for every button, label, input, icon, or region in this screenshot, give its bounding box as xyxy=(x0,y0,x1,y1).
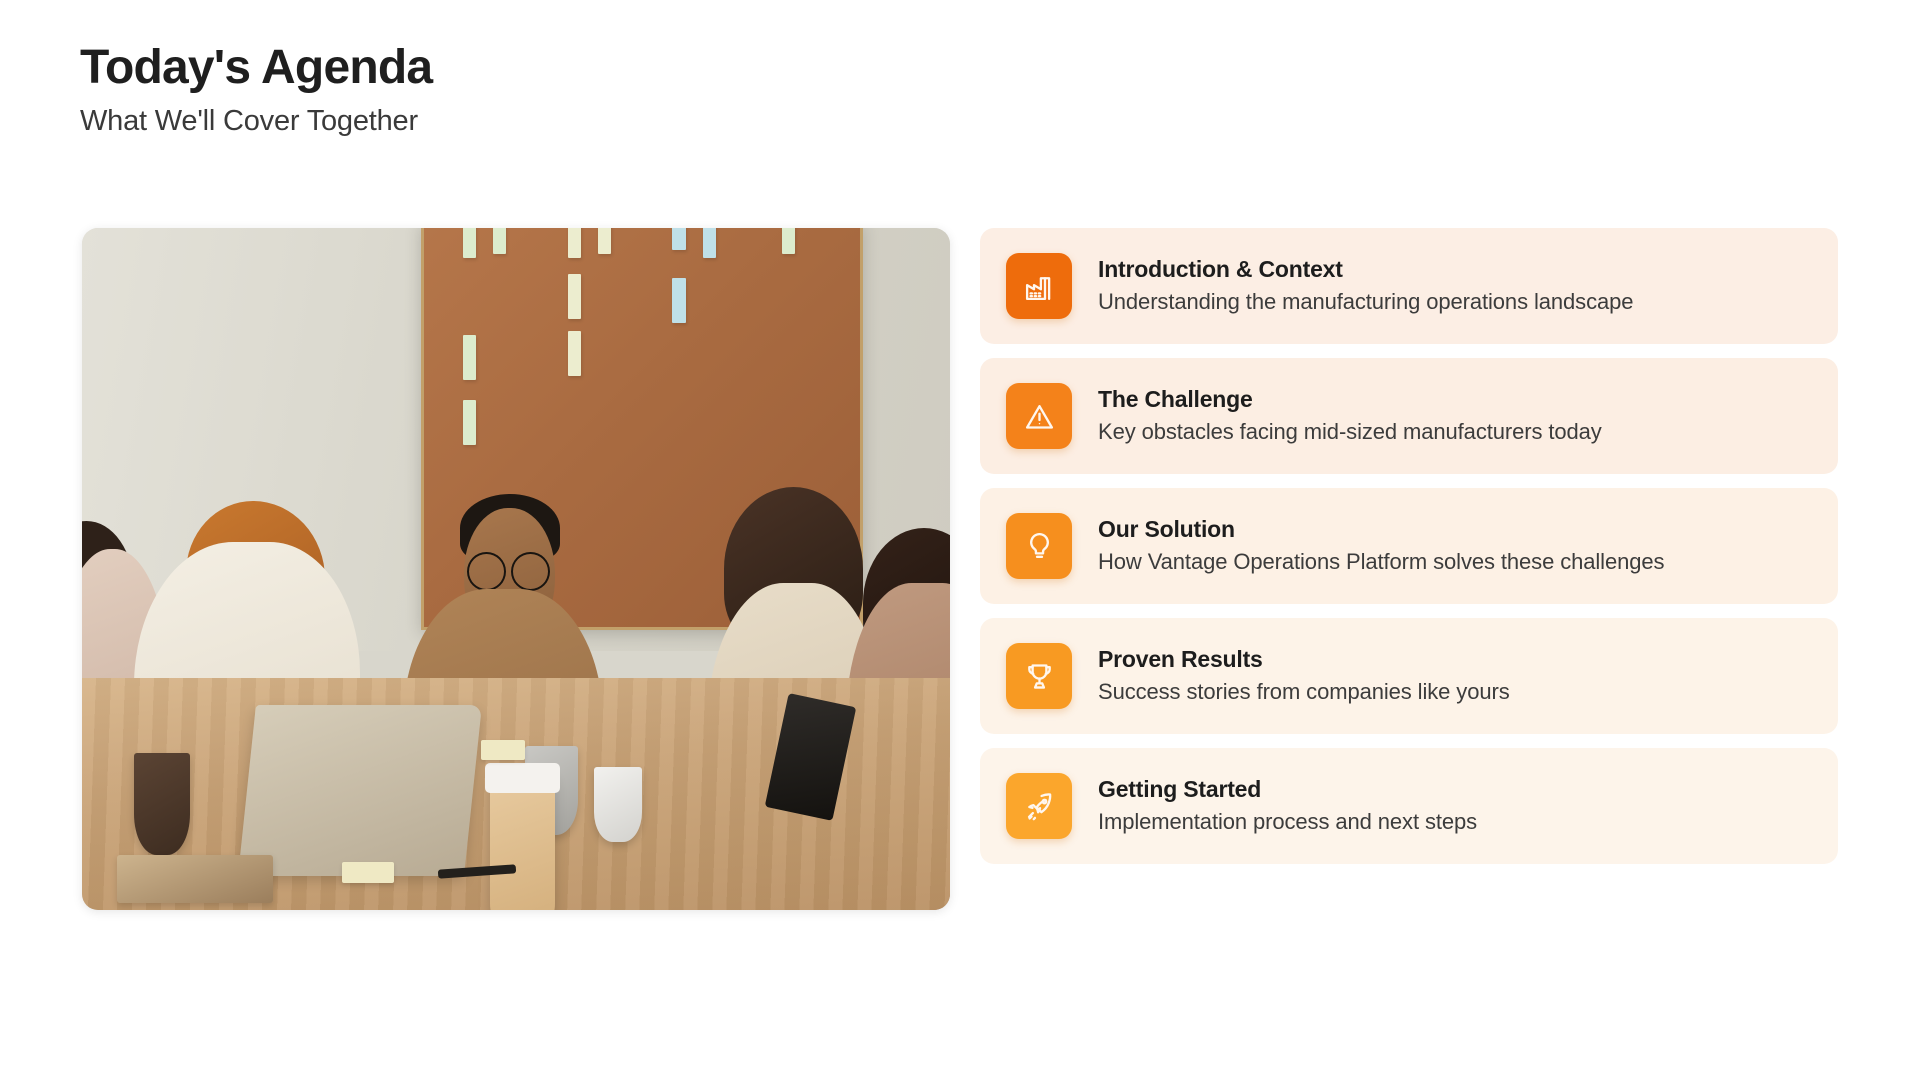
meeting-photo xyxy=(82,228,950,910)
agenda-list: Introduction & Context Understanding the… xyxy=(980,228,1838,864)
sticky-note xyxy=(672,228,685,250)
agenda-item-description: Understanding the manufacturing operatio… xyxy=(1098,288,1633,317)
sticky-note xyxy=(493,228,506,254)
meeting-photo-illustration xyxy=(82,228,950,910)
coffee-mug xyxy=(594,767,642,842)
sticky-note xyxy=(672,278,685,323)
sticky-note xyxy=(782,228,795,254)
sticky-note xyxy=(568,274,581,319)
sticky-note xyxy=(463,335,476,380)
sticky-note xyxy=(598,228,611,254)
agenda-item-our-solution[interactable]: Our Solution How Vantage Operations Plat… xyxy=(980,488,1838,604)
laptop xyxy=(238,705,482,876)
sticky-note xyxy=(568,331,581,376)
sticky-note xyxy=(342,862,394,882)
agenda-item-title: Our Solution xyxy=(1098,515,1664,544)
slide-content: Introduction & Context Understanding the… xyxy=(82,228,1838,910)
agenda-item-the-challenge[interactable]: The Challenge Key obstacles facing mid-s… xyxy=(980,358,1838,474)
agenda-item-text: Our Solution How Vantage Operations Plat… xyxy=(1098,515,1664,576)
factory-icon xyxy=(1023,270,1056,303)
warning-triangle-icon xyxy=(1023,400,1056,433)
agenda-item-title: The Challenge xyxy=(1098,385,1602,414)
agenda-item-text: Getting Started Implementation process a… xyxy=(1098,775,1477,836)
agenda-item-icon-tile xyxy=(1006,383,1072,449)
agenda-item-text: Proven Results Success stories from comp… xyxy=(1098,645,1510,706)
agenda-item-introduction-context[interactable]: Introduction & Context Understanding the… xyxy=(980,228,1838,344)
page-title: Today's Agenda xyxy=(80,40,432,95)
notebook xyxy=(117,855,273,903)
agenda-item-title: Introduction & Context xyxy=(1098,255,1633,284)
agenda-item-description: Implementation process and next steps xyxy=(1098,808,1477,837)
page-subtitle: What We'll Cover Together xyxy=(80,104,432,139)
agenda-item-title: Proven Results xyxy=(1098,645,1510,674)
sticky-note xyxy=(463,400,476,445)
agenda-item-icon-tile xyxy=(1006,253,1072,319)
agenda-item-icon-tile xyxy=(1006,643,1072,709)
lightbulb-icon xyxy=(1023,530,1056,563)
agenda-item-icon-tile xyxy=(1006,773,1072,839)
agenda-slide: Today's Agenda What We'll Cover Together xyxy=(0,0,1920,1080)
agenda-item-text: The Challenge Key obstacles facing mid-s… xyxy=(1098,385,1602,446)
sticky-note xyxy=(568,228,581,258)
sticky-note xyxy=(463,228,476,258)
agenda-item-description: How Vantage Operations Platform solves t… xyxy=(1098,548,1664,577)
agenda-item-getting-started[interactable]: Getting Started Implementation process a… xyxy=(980,748,1838,864)
slide-header: Today's Agenda What We'll Cover Together xyxy=(80,40,432,139)
agenda-item-description: Key obstacles facing mid-sized manufactu… xyxy=(1098,418,1602,447)
eyeglasses xyxy=(467,552,550,587)
trophy-icon xyxy=(1023,660,1056,693)
sticky-note xyxy=(481,740,524,760)
agenda-item-text: Introduction & Context Understanding the… xyxy=(1098,255,1633,316)
rocket-icon xyxy=(1023,790,1056,823)
agenda-item-icon-tile xyxy=(1006,513,1072,579)
agenda-item-title: Getting Started xyxy=(1098,775,1477,804)
agenda-item-description: Success stories from companies like your… xyxy=(1098,678,1510,707)
sticky-note xyxy=(703,228,716,258)
coffee-mug xyxy=(134,753,190,855)
agenda-item-proven-results[interactable]: Proven Results Success stories from comp… xyxy=(980,618,1838,734)
takeaway-cup xyxy=(490,774,555,910)
